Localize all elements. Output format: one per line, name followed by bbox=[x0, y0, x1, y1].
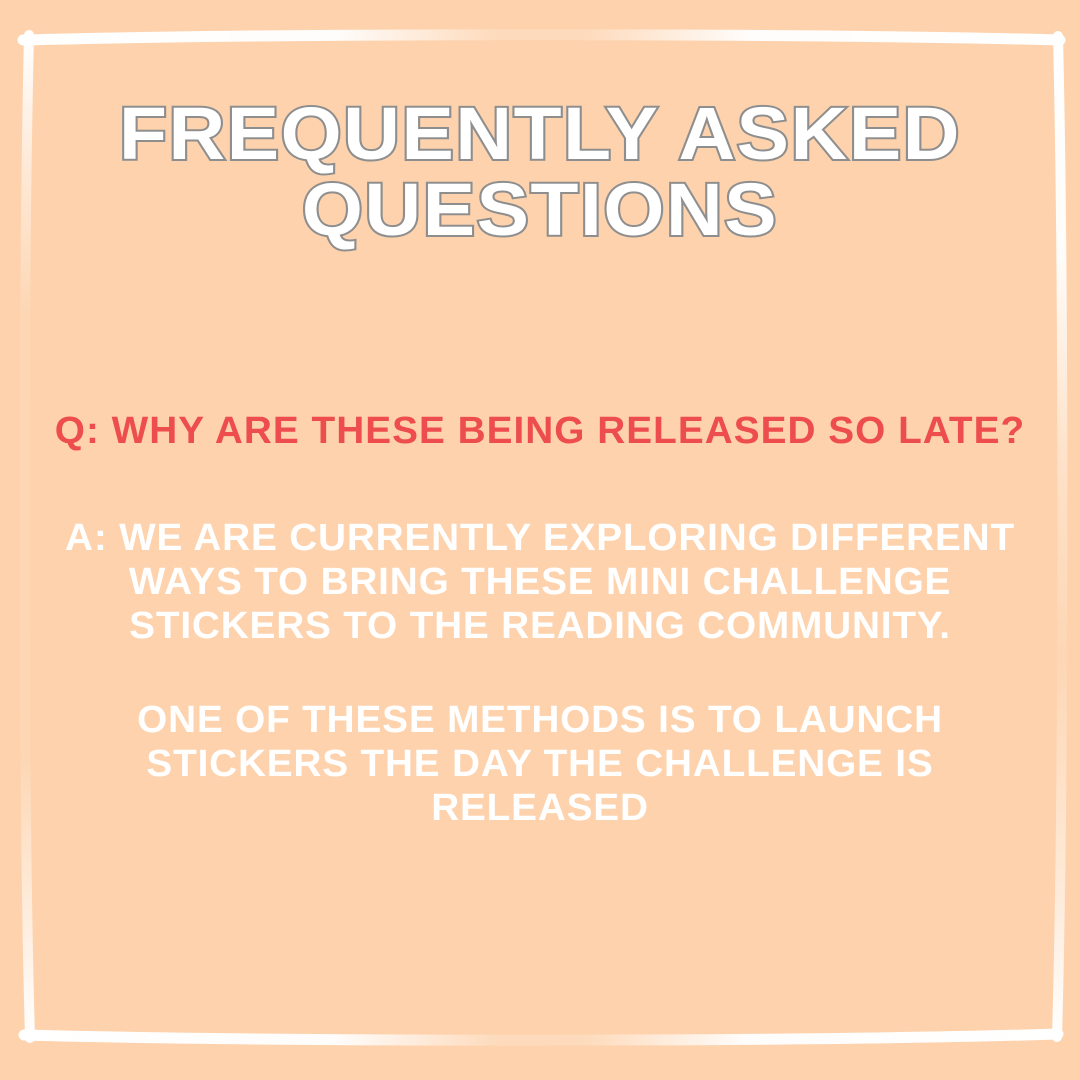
faq-answer-paragraph-1: A: WE ARE CURRENTLY EXPLORING DIFFERENT … bbox=[40, 516, 1040, 648]
page-title-line-2: QUESTIONS bbox=[0, 172, 1080, 248]
faq-answer-p2-line-1: ONE OF THESE METHODS IS TO LAUNCH bbox=[40, 698, 1040, 742]
faq-answer-paragraph-2: ONE OF THESE METHODS IS TO LAUNCH STICKE… bbox=[40, 698, 1040, 830]
faq-answer-p1-line-3: STICKERS TO THE READING COMMUNITY. bbox=[40, 604, 1040, 648]
page-title: FREQUENTLY ASKED QUESTIONS bbox=[0, 96, 1080, 248]
page-title-line-1: FREQUENTLY ASKED bbox=[0, 96, 1080, 172]
faq-question-text: Q: WHY ARE THESE BEING RELEASED SO LATE? bbox=[40, 408, 1040, 454]
faq-answer-p1-line-2: WAYS TO BRING THESE MINI CHALLENGE bbox=[40, 560, 1040, 604]
faq-content: A: WE ARE CURRENTLY EXPLORING DIFFERENT … bbox=[50, 408, 1030, 830]
faq-card: FREQUENTLY ASKED QUESTIONS A: WE ARE CUR… bbox=[0, 0, 1080, 1080]
faq-answer-p1-line-1: A: WE ARE CURRENTLY EXPLORING DIFFERENT bbox=[40, 516, 1040, 560]
faq-answer-p2-line-2: STICKERS THE DAY THE CHALLENGE IS bbox=[40, 742, 1040, 786]
faq-question: A: WE ARE CURRENTLY EXPLORING DIFFERENT … bbox=[40, 408, 1040, 454]
faq-answer-p2-line-3: RELEASED bbox=[40, 786, 1040, 830]
